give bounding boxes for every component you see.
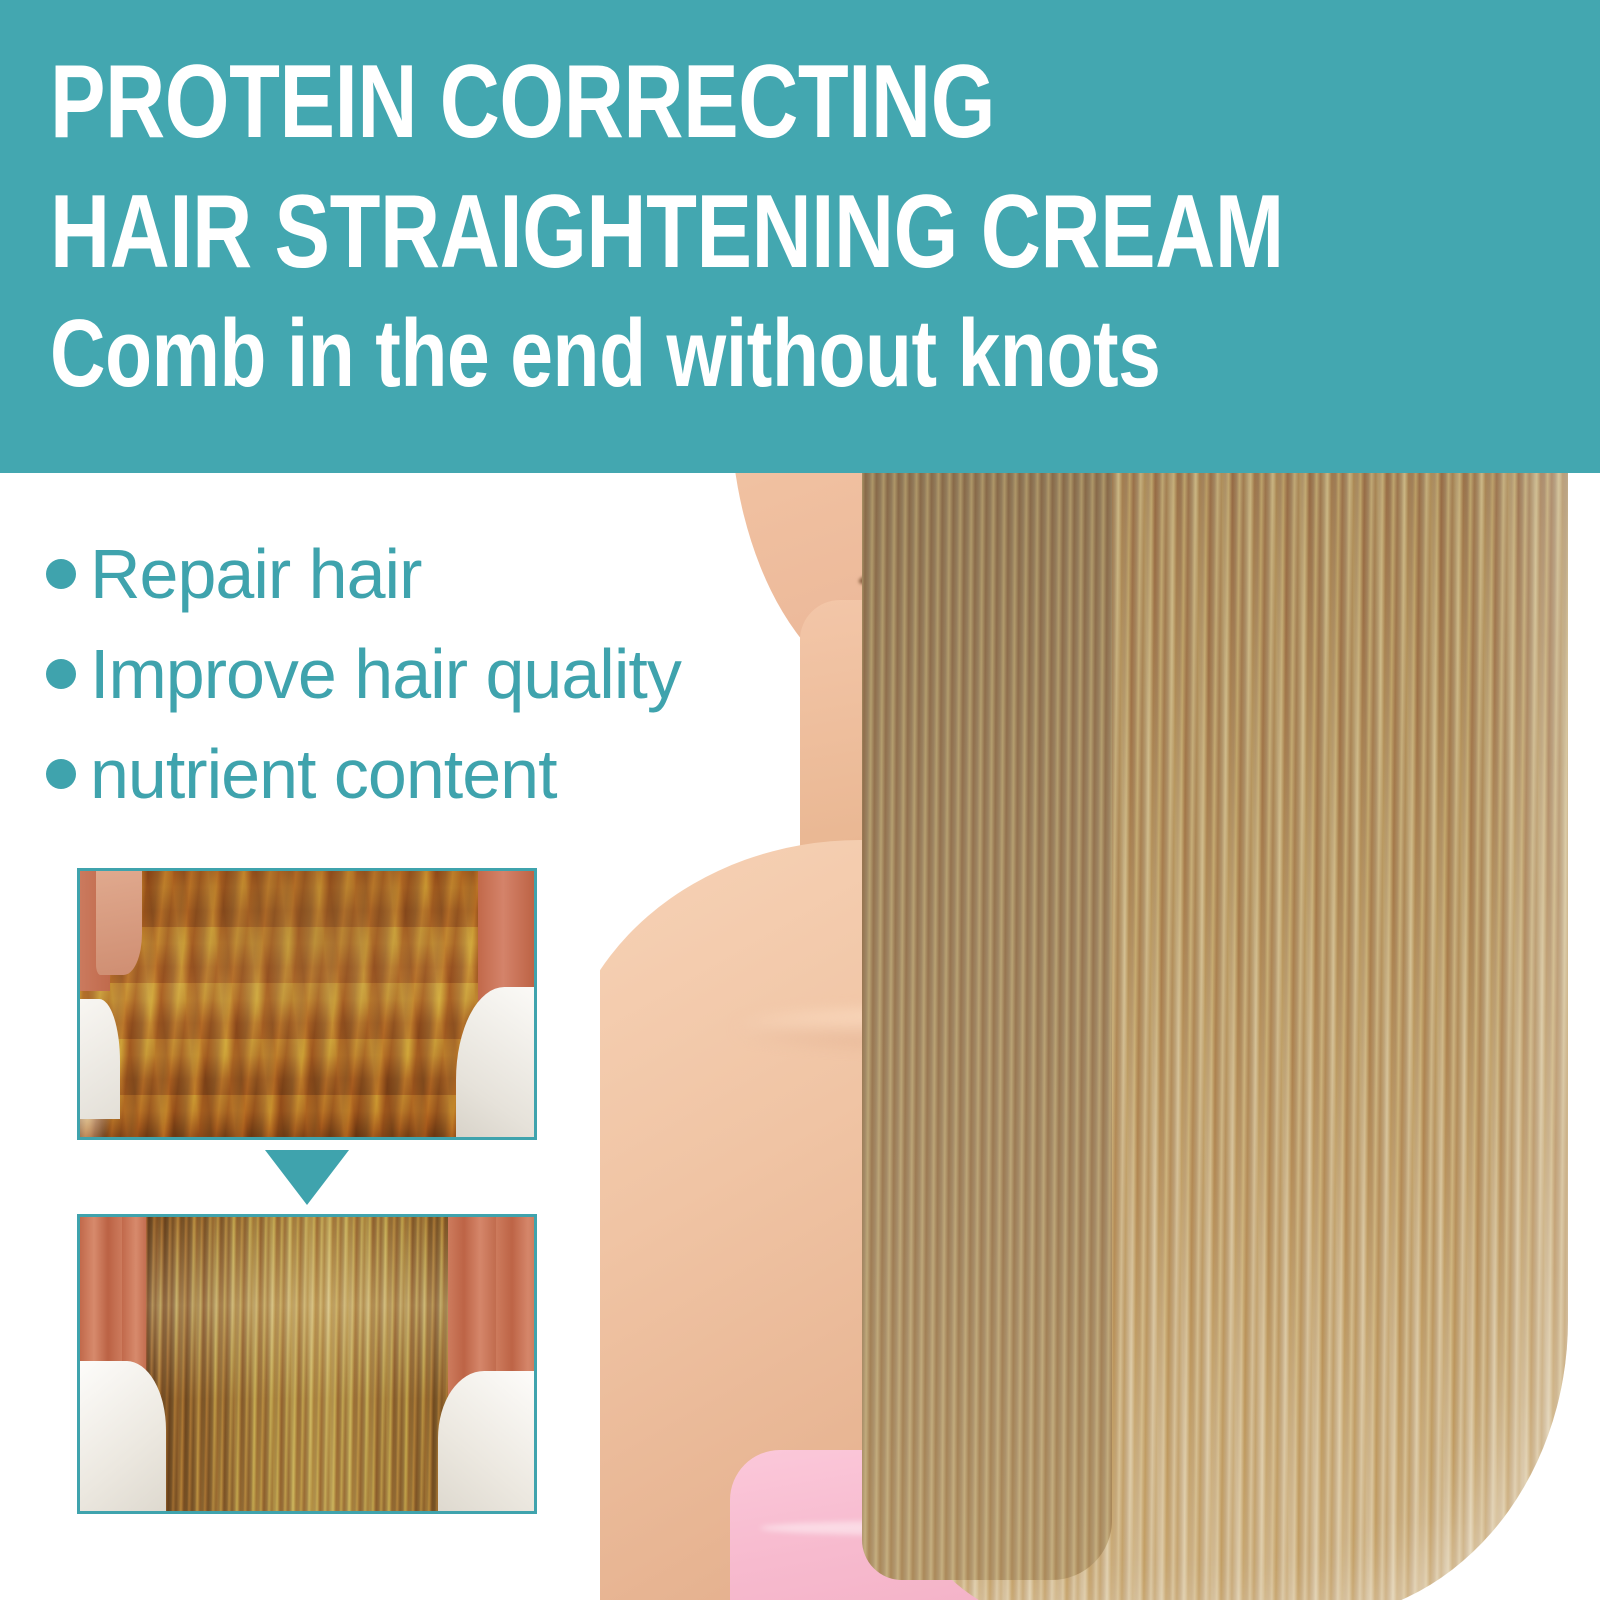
benefit-item-improve-hair-quality: Improve hair quality (46, 624, 681, 724)
benefit-label: Repair hair (90, 539, 421, 609)
arrow-down-icon (265, 1150, 349, 1205)
comparison-arrow-wrap (77, 1140, 537, 1214)
benefit-label: nutrient content (90, 739, 557, 809)
before-shirt-left (80, 999, 120, 1119)
product-title-line-1: PROTEIN CORRECTING (50, 50, 1250, 154)
before-photo-frame (77, 868, 537, 1140)
bullet-dot-icon (46, 659, 76, 689)
before-neck-skin (96, 871, 142, 975)
title-block: PROTEIN CORRECTING HAIR STRAIGHTENING CR… (50, 30, 1550, 402)
bullet-dot-icon (46, 759, 76, 789)
after-shirt-right (438, 1371, 534, 1511)
benefit-label: Improve hair quality (90, 639, 681, 709)
product-title-line-2: HAIR STRAIGHTENING CREAM (50, 180, 1250, 284)
benefit-item-nutrient-content: nutrient content (46, 724, 681, 824)
after-photo-frame (77, 1214, 537, 1514)
benefits-list: Repair hair Improve hair quality nutrien… (46, 524, 681, 824)
product-tagline: Comb in the end without knots (50, 306, 1250, 402)
benefit-item-repair-hair: Repair hair (46, 524, 681, 624)
header-banner: PROTEIN CORRECTING HAIR STRAIGHTENING CR… (0, 0, 1600, 473)
before-after-comparison (77, 868, 537, 1514)
bullet-dot-icon (46, 559, 76, 589)
after-shirt-left (80, 1361, 166, 1511)
